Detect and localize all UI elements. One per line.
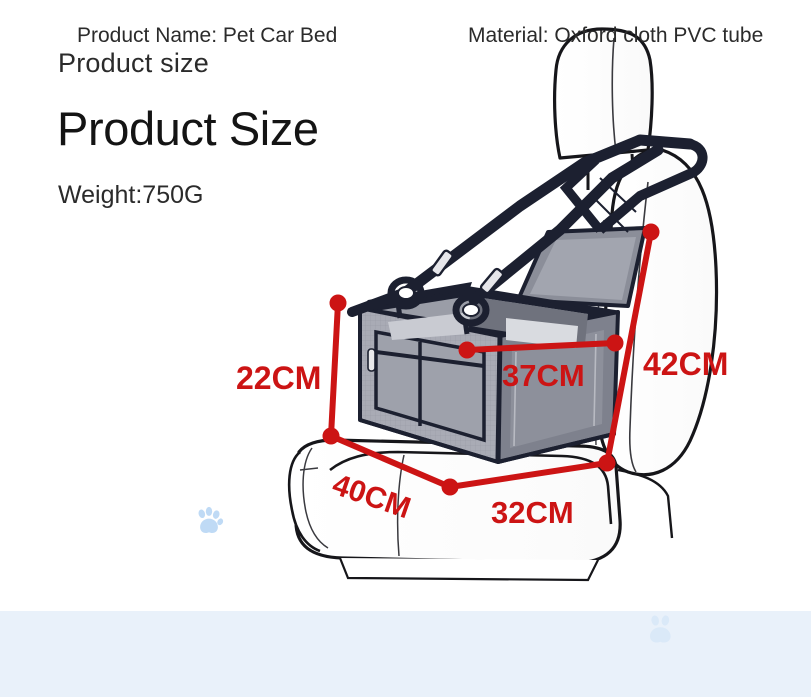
footer-bar [0, 611, 811, 697]
dimension-label-32cm: 32CM [491, 495, 574, 531]
paw-print-icon [193, 505, 225, 537]
footer-material: Material: Oxford cloth PVC tube [468, 24, 763, 48]
paw-print-icon [645, 612, 679, 646]
dimension-label-22cm: 22CM [236, 360, 321, 397]
dimension-line-22cm [331, 303, 338, 436]
infographic-canvas: Product size Product Size Weight:750G [0, 0, 811, 697]
footer-product-name: Product Name: Pet Car Bed [77, 24, 337, 48]
dimension-label-37cm: 37CM [502, 358, 585, 394]
dimension-label-42cm: 42CM [643, 346, 728, 383]
product-illustration [0, 0, 811, 620]
